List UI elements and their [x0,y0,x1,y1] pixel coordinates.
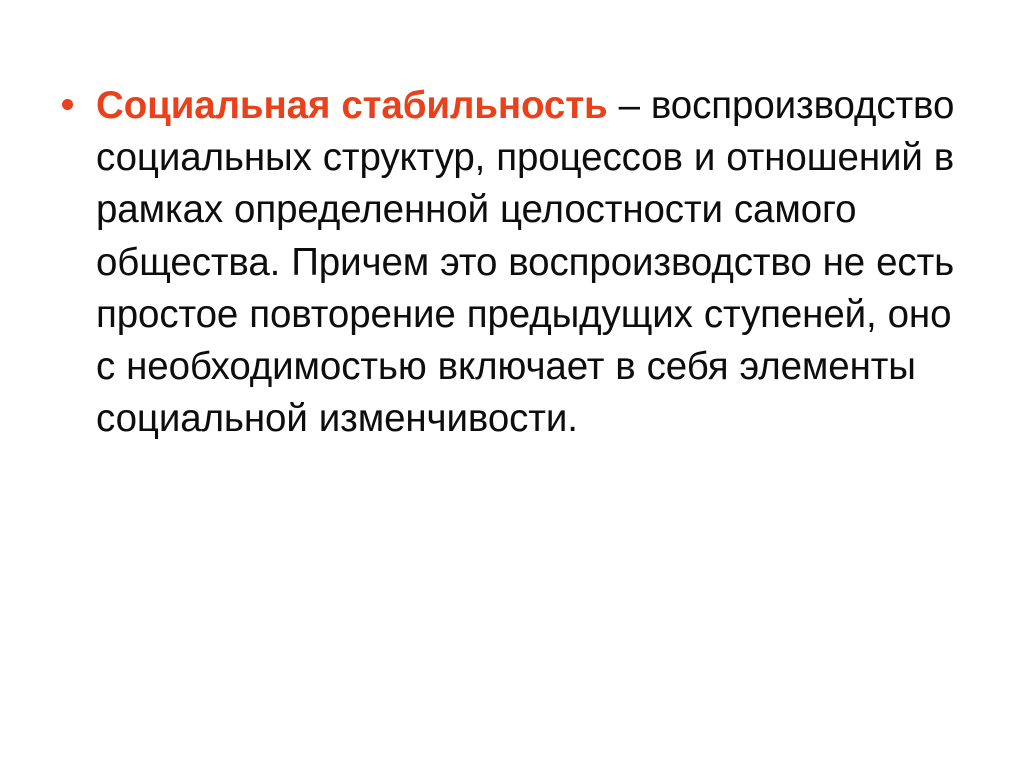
bullet-dot-icon [62,99,73,110]
bullet-body-text: – воспроизводство социальных структур, п… [96,84,954,440]
slide-canvas: Социальная стабильность – воспроизводств… [0,0,1024,767]
bullet-paragraph: Социальная стабильность – воспроизводств… [96,80,968,445]
lead-term-highlight: Социальная стабильность [96,84,608,127]
list-item: Социальная стабильность – воспроизводств… [56,80,968,445]
slide-content-area: Социальная стабильность – воспроизводств… [56,80,968,445]
